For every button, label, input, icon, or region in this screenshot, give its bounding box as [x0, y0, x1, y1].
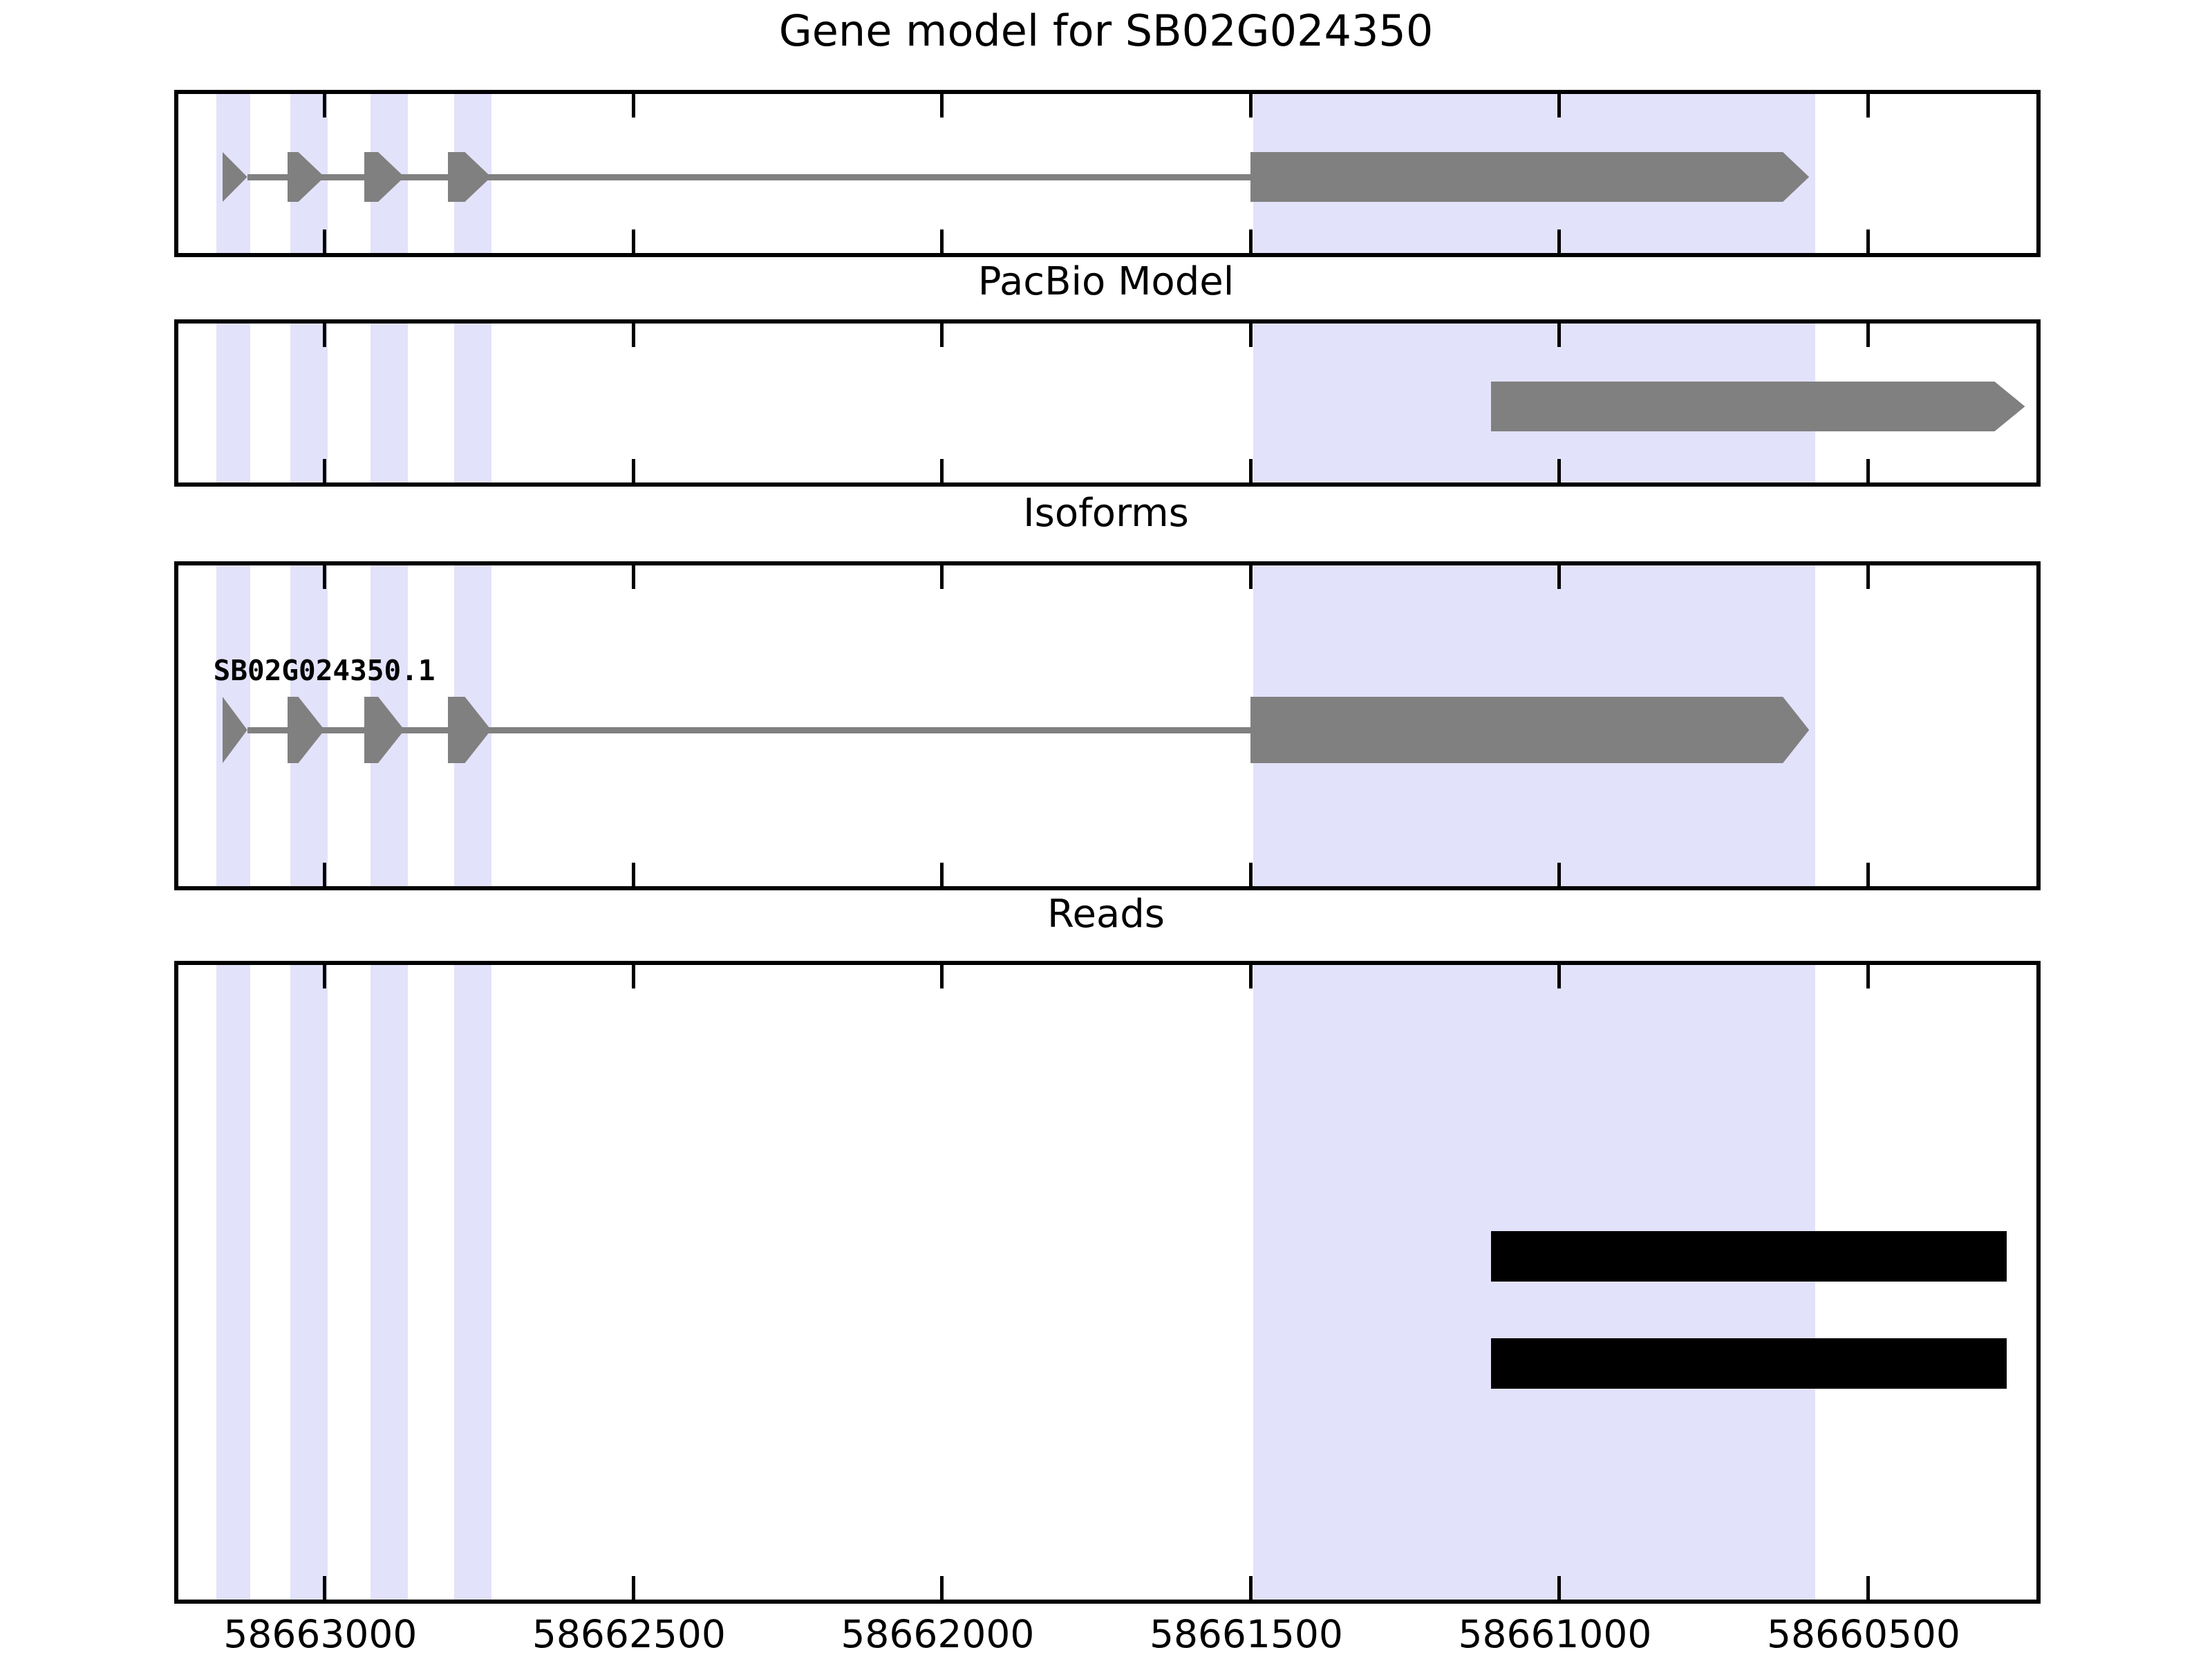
axis-tick-mark — [1866, 94, 1870, 118]
axis-tick-mark — [940, 94, 944, 118]
axis-tick-mark — [1557, 1576, 1561, 1600]
axis-tick-mark — [940, 863, 944, 886]
axis-tick-label: 58662500 — [532, 1612, 726, 1656]
exon-arrow — [223, 152, 247, 202]
axis-tick-mark — [323, 565, 326, 589]
exon-arrow — [1491, 382, 2025, 431]
axis-tick-mark — [1557, 94, 1561, 118]
isoforms-plot: SB02G024350.1 — [178, 565, 2036, 886]
axis-tick-mark — [1557, 324, 1561, 347]
axis-tick-label: 58661500 — [1150, 1612, 1343, 1656]
highlight-band — [454, 324, 491, 482]
axis-tick-mark — [632, 94, 635, 118]
isoform-label: SB02G024350.1 — [214, 654, 435, 687]
axis-tick-mark — [632, 863, 635, 886]
exon-arrow — [223, 697, 247, 763]
axis-tick-mark — [1866, 863, 1870, 886]
axis-tick-label: 58663000 — [223, 1612, 417, 1656]
intron-line — [247, 174, 1250, 180]
read-bar — [1491, 1338, 2007, 1389]
highlight-band — [216, 965, 250, 1600]
read-bar — [1491, 1231, 2007, 1282]
axis-tick-mark — [632, 965, 635, 988]
highlight-band — [290, 324, 328, 482]
axis-tick-mark — [1557, 459, 1561, 482]
panel-isoforms[interactable]: SB02G024350.1 — [174, 561, 2041, 890]
highlight-band — [371, 324, 408, 482]
axis-tick-mark — [632, 1576, 635, 1600]
axis-tick-mark — [632, 229, 635, 253]
axis-tick-mark — [323, 229, 326, 253]
reads-plot — [178, 965, 2036, 1600]
axis-tick-mark — [940, 1576, 944, 1600]
panel-title-reads: Reads — [0, 892, 2212, 937]
axis-tick-mark — [323, 965, 326, 988]
axis-tick-mark — [1249, 229, 1253, 253]
axis-tick-mark — [1249, 863, 1253, 886]
axis-tick-mark — [323, 459, 326, 482]
axis-tick-mark — [940, 324, 944, 347]
axis-tick-label: 58662000 — [841, 1612, 1034, 1656]
figure-root: Gene model for SB02G024350 PacBio Model … — [0, 0, 2212, 1659]
axis-tick-mark — [1866, 229, 1870, 253]
highlight-band — [216, 324, 250, 482]
gene-model-plot — [178, 94, 2036, 253]
axis-tick-label: 58661000 — [1458, 1612, 1651, 1656]
highlight-band — [1253, 965, 1815, 1600]
axis-tick-mark — [940, 965, 944, 988]
panel-title-pacbio: PacBio Model — [0, 259, 2212, 304]
panel-gene-model[interactable] — [174, 90, 2041, 257]
axis-tick-mark — [1557, 863, 1561, 886]
intron-line — [247, 727, 1250, 733]
highlight-band — [454, 965, 491, 1600]
axis-tick-mark — [632, 565, 635, 589]
exon-arrow — [1250, 697, 1809, 763]
exon-arrow — [1250, 152, 1809, 202]
axis-tick-label: 58660500 — [1767, 1612, 1960, 1656]
axis-tick-mark — [323, 863, 326, 886]
axis-tick-mark — [940, 229, 944, 253]
panel-reads[interactable] — [174, 961, 2041, 1604]
axis-tick-mark — [1866, 565, 1870, 589]
axis-tick-mark — [1866, 459, 1870, 482]
axis-tick-mark — [1866, 965, 1870, 988]
axis-tick-mark — [632, 459, 635, 482]
axis-tick-mark — [1249, 94, 1253, 118]
axis-tick-mark — [1557, 965, 1561, 988]
page-title: Gene model for SB02G024350 — [0, 6, 2212, 56]
axis-tick-mark — [940, 459, 944, 482]
panel-title-isoforms: Isoforms — [0, 491, 2212, 536]
axis-tick-mark — [940, 565, 944, 589]
pacbio-model-plot — [178, 324, 2036, 482]
axis-tick-mark — [1249, 324, 1253, 347]
axis-tick-mark — [323, 94, 326, 118]
axis-tick-mark — [1249, 965, 1253, 988]
panel-pacbio-model[interactable] — [174, 319, 2041, 487]
axis-tick-mark — [1866, 324, 1870, 347]
axis-tick-mark — [1557, 565, 1561, 589]
axis-tick-mark — [1249, 1576, 1253, 1600]
axis-tick-mark — [1249, 565, 1253, 589]
axis-tick-mark — [1866, 1576, 1870, 1600]
axis-tick-mark — [1249, 459, 1253, 482]
highlight-band — [290, 965, 328, 1600]
axis-tick-mark — [1557, 229, 1561, 253]
axis-tick-mark — [632, 324, 635, 347]
axis-tick-mark — [323, 1576, 326, 1600]
axis-tick-mark — [323, 324, 326, 347]
highlight-band — [371, 965, 408, 1600]
